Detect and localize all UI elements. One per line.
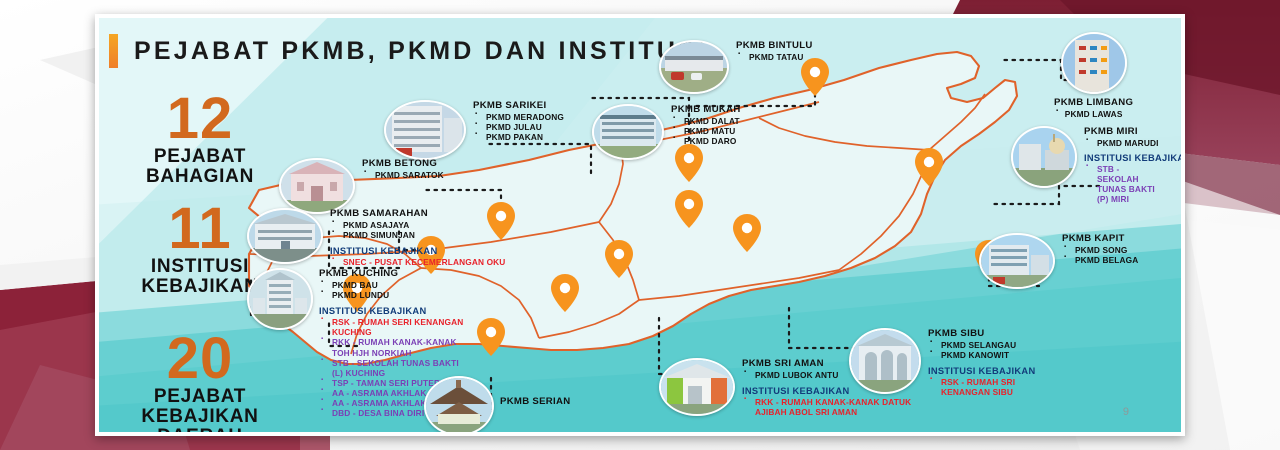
institution-items: STB - SEKOLAH TUNAS BAKTI (P) MIRI <box>1084 164 1185 204</box>
callout-items: PKMD LAWAS <box>1054 109 1133 119</box>
institution-item: STB - SEKOLAH TUNAS BAKTI (L) KUCHING <box>319 358 464 378</box>
stat-label-line3: DAERAH <box>115 427 285 436</box>
institution-heading-label: INSTITUSI KEBAJIKAN <box>742 386 849 396</box>
institution-item: RKK - RUMAH KANAK-KANAK DATUK AJIBAH ABO… <box>742 397 930 417</box>
callout-serian[interactable]: PKMB SERIAN <box>424 376 570 436</box>
serian-text: PKMB SERIAN <box>500 396 570 408</box>
callout-items: PKMD MERADONG PKMD JULAU PKMD PAKAN <box>473 112 564 142</box>
callout-item: PKMD BAU <box>319 280 464 290</box>
callout-title: PKMB KAPIT <box>1062 233 1138 245</box>
institution-item: SNEC - PUSAT KECEMERLANGAN OKU <box>330 257 505 267</box>
title-accent-bar <box>109 34 118 68</box>
betong-building-photo <box>279 158 355 214</box>
limbang-text: PKMB LIMBANG PKMD LAWAS <box>1054 97 1133 119</box>
callout-item: PKMD ASAJAYA <box>330 220 505 230</box>
callout-item: PKMD SELANGAU <box>928 340 1059 350</box>
page-number: 9 <box>1123 406 1129 418</box>
stat-label-line1: PEJABAT <box>115 147 285 167</box>
callout-title: PKMB MUKAH <box>671 104 741 116</box>
callout-item: PKMD LAWAS <box>1054 109 1133 119</box>
serian-building-photo <box>424 376 494 436</box>
callout-sibu[interactable]: PKMB SIBU PKMD SELANGAU PKMD KANOWIT INS… <box>849 328 1059 397</box>
callout-items: PKMD MARUDI <box>1084 138 1185 148</box>
callout-mukah[interactable]: PKMB MUKAH PKMD DALAT PKMD MATU PKMD DAR… <box>592 104 741 160</box>
callout-item: PKMD TATAU <box>736 52 813 62</box>
callout-items: PKMD SARATOK <box>362 170 444 180</box>
callout-sarikei[interactable]: PKMB SARIKEI PKMD MERADONG PKMD JULAU PK… <box>384 100 564 160</box>
callout-items: PKMD TATAU <box>736 52 813 62</box>
kapit-building-photo <box>979 233 1055 289</box>
stat-label: PEJABAT BAHAGIAN <box>115 147 285 187</box>
limbang-building-photo <box>1061 32 1127 94</box>
callout-item: PKMD SONG <box>1062 245 1138 255</box>
page-title: PEJABAT PKMB, PKMD DAN INSTITUSI <box>109 34 708 68</box>
sarikei-text: PKMB SARIKEI PKMD MERADONG PKMD JULAU PK… <box>473 100 564 142</box>
callout-title: PKMB SAMARAHAN <box>330 208 505 220</box>
sri-aman-building-photo <box>659 358 735 416</box>
sibu-text: PKMB SIBU PKMD SELANGAU PKMD KANOWIT INS… <box>928 328 1059 397</box>
institution-items: SNEC - PUSAT KECEMERLANGAN OKU <box>330 257 505 267</box>
institution-heading: INSTITUSI KEBAJIKAN <box>1084 154 1185 164</box>
samarahan-building-photo <box>247 208 323 264</box>
callout-kapit[interactable]: PKMB KAPIT PKMD SONG PKMD BELAGA <box>979 233 1138 289</box>
callout-title: PKMB MIRI <box>1084 126 1185 138</box>
stat-label-line2: BAHAGIAN <box>115 167 285 187</box>
callout-item: PKMD KANOWIT <box>928 350 1059 360</box>
callout-item: PKMD LUNDU <box>319 290 464 300</box>
institution-heading: INSTITUSI KEBAJIKAN <box>330 246 505 257</box>
mukah-building-photo <box>592 104 664 160</box>
sarikei-building-photo <box>384 100 466 160</box>
callout-title: PKMB SARIKEI <box>473 100 564 112</box>
callout-items: PKMD ASAJAYA PKMD SIMUNJAN <box>330 220 505 240</box>
callout-item: PKMD BELAGA <box>1062 255 1138 265</box>
institution-items: RKK - RUMAH KANAK-KANAK DATUK AJIBAH ABO… <box>742 397 930 417</box>
bintulu-text: PKMB BINTULU PKMD TATAU <box>736 40 813 62</box>
institution-heading-label: INSTITUSI KEBAJIKAN <box>319 306 426 316</box>
callout-limbang[interactable]: PKMB LIMBANG PKMD LAWAS <box>1054 32 1133 119</box>
slide-card: PEJABAT PKMB, PKMD DAN INSTITUSI 12 PEJA… <box>95 14 1185 436</box>
callout-item: PKMD PAKAN <box>473 132 564 142</box>
betong-text: PKMB BETONG PKMD SARATOK <box>362 158 444 180</box>
samarahan-text: PKMB SAMARAHAN PKMD ASAJAYA PKMD SIMUNJA… <box>330 208 505 267</box>
institution-item: RSK - RUMAH SERI KENANGAN KUCHING <box>319 317 464 337</box>
map-marker <box>477 318 505 356</box>
callout-miri[interactable]: PKMB MIRI PKMD MARUDI INSTITUSI KEBAJIKA… <box>1011 126 1185 204</box>
callout-title: PKMB SERIAN <box>500 396 570 408</box>
callout-item: PKMD DALAT <box>671 116 741 126</box>
callout-title: PKMB BETONG <box>362 158 444 170</box>
callout-betong[interactable]: PKMB BETONG PKMD SARATOK <box>279 158 444 214</box>
callout-items: PKMD DALAT PKMD MATU PKMD DARO <box>671 116 741 146</box>
mukah-text: PKMB MUKAH PKMD DALAT PKMD MATU PKMD DAR… <box>671 104 741 146</box>
callout-bintulu[interactable]: PKMB BINTULU PKMD TATAU <box>659 40 813 94</box>
callout-item: PKMD SARATOK <box>362 170 444 180</box>
callout-items: PKMD SONG PKMD BELAGA <box>1062 245 1138 265</box>
callout-items: PKMD SELANGAU PKMD KANOWIT <box>928 340 1059 360</box>
callout-item: PKMD MERADONG <box>473 112 564 122</box>
callout-items: PKMD BAU PKMD LUNDU <box>319 280 464 300</box>
miri-building-photo <box>1011 126 1077 188</box>
callout-title: PKMB KUCHING <box>319 268 464 280</box>
kuching-building-photo <box>247 268 313 330</box>
miri-text: PKMB MIRI PKMD MARUDI INSTITUSI KEBAJIKA… <box>1084 126 1185 204</box>
callout-item: PKMD MARUDI <box>1084 138 1185 148</box>
title-label: PEJABAT PKMB, PKMD DAN INSTITUSI <box>134 37 708 66</box>
institution-heading: INSTITUSI KEBAJIKAN <box>319 306 464 317</box>
institution-heading: INSTITUSI KEBAJIKAN <box>928 366 1059 377</box>
institution-items: RSK - RUMAH SRI KENANGAN SIBU <box>928 377 1059 397</box>
callout-title: PKMB LIMBANG <box>1054 97 1133 109</box>
callout-item: PKMD MATU <box>671 126 741 136</box>
institution-heading-label: INSTITUSI KEBAJIKAN <box>1084 153 1185 163</box>
callout-item: PKMD SIMUNJAN <box>330 230 505 240</box>
stat-pejabat-bahagian: 12 PEJABAT BAHAGIAN <box>115 92 285 187</box>
institution-item: RSK - RUMAH SRI KENANGAN SIBU <box>928 377 1059 397</box>
institution-heading-label: INSTITUSI KEBAJIKAN <box>330 246 437 256</box>
callout-samarahan[interactable]: PKMB SAMARAHAN PKMD ASAJAYA PKMD SIMUNJA… <box>247 208 505 267</box>
bintulu-building-photo <box>659 40 729 94</box>
stat-number: 12 <box>115 92 285 145</box>
sibu-building-photo <box>849 328 921 394</box>
institution-item: STB - SEKOLAH TUNAS BAKTI (P) MIRI <box>1084 164 1157 204</box>
callout-title: PKMB SIBU <box>928 328 1059 340</box>
institution-item: RKK - RUMAH KANAK-KANAK TOH HJH NORKIAH <box>319 337 464 357</box>
kapit-text: PKMB KAPIT PKMD SONG PKMD BELAGA <box>1062 233 1138 265</box>
callout-item: PKMD JULAU <box>473 122 564 132</box>
callout-item: PKMD DARO <box>671 136 741 146</box>
callout-title: PKMB BINTULU <box>736 40 813 52</box>
institution-heading-label: INSTITUSI KEBAJIKAN <box>928 366 1035 376</box>
